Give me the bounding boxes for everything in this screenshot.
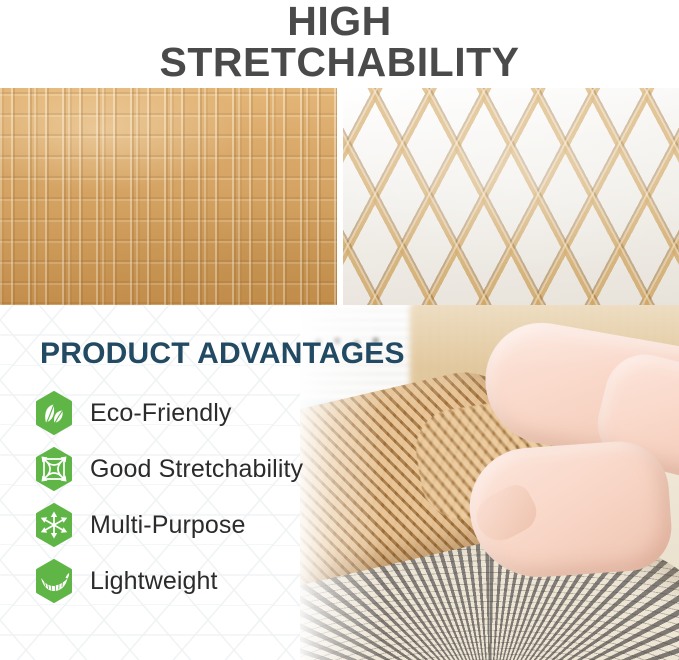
advantages-list: Eco-Friendly — [32, 385, 452, 609]
advantage-item-stretchability: Good Stretchability — [32, 441, 452, 497]
advantage-item-eco-friendly: Eco-Friendly — [32, 385, 452, 441]
advantage-item-lightweight: Lightweight — [32, 553, 452, 609]
product-infographic: HIGH STRETCHABILITY — [0, 0, 679, 660]
unstretched-kraft-paper-photo — [0, 88, 337, 305]
advantage-item-multi-purpose: Multi-Purpose — [32, 497, 452, 553]
advantage-label: Multi-Purpose — [90, 511, 246, 540]
mesh-shading — [343, 88, 679, 305]
page-title-line-2: STRETCHABILITY — [159, 42, 519, 83]
advantages-section: PRODUCT ADVANTAGES Eco-Friendly — [0, 305, 679, 660]
header: HIGH STRETCHABILITY — [0, 0, 679, 88]
advantage-label: Lightweight — [90, 567, 218, 596]
comparison-photo-band — [0, 88, 679, 305]
kraft-shading — [0, 88, 337, 305]
advantages-overlay: PRODUCT ADVANTAGES Eco-Friendly — [0, 305, 460, 660]
page-title-line-1: HIGH — [287, 1, 392, 42]
multi-direction-arrows-icon — [32, 503, 76, 547]
advantage-label: Good Stretchability — [90, 455, 303, 484]
advantages-heading: PRODUCT ADVANTAGES — [40, 337, 405, 371]
stretched-honeycomb-mesh-photo — [343, 88, 679, 305]
advantage-label: Eco-Friendly — [90, 399, 232, 428]
leaf-icon — [32, 391, 76, 435]
stretch-arrows-icon — [32, 447, 76, 491]
feather-icon — [32, 559, 76, 603]
